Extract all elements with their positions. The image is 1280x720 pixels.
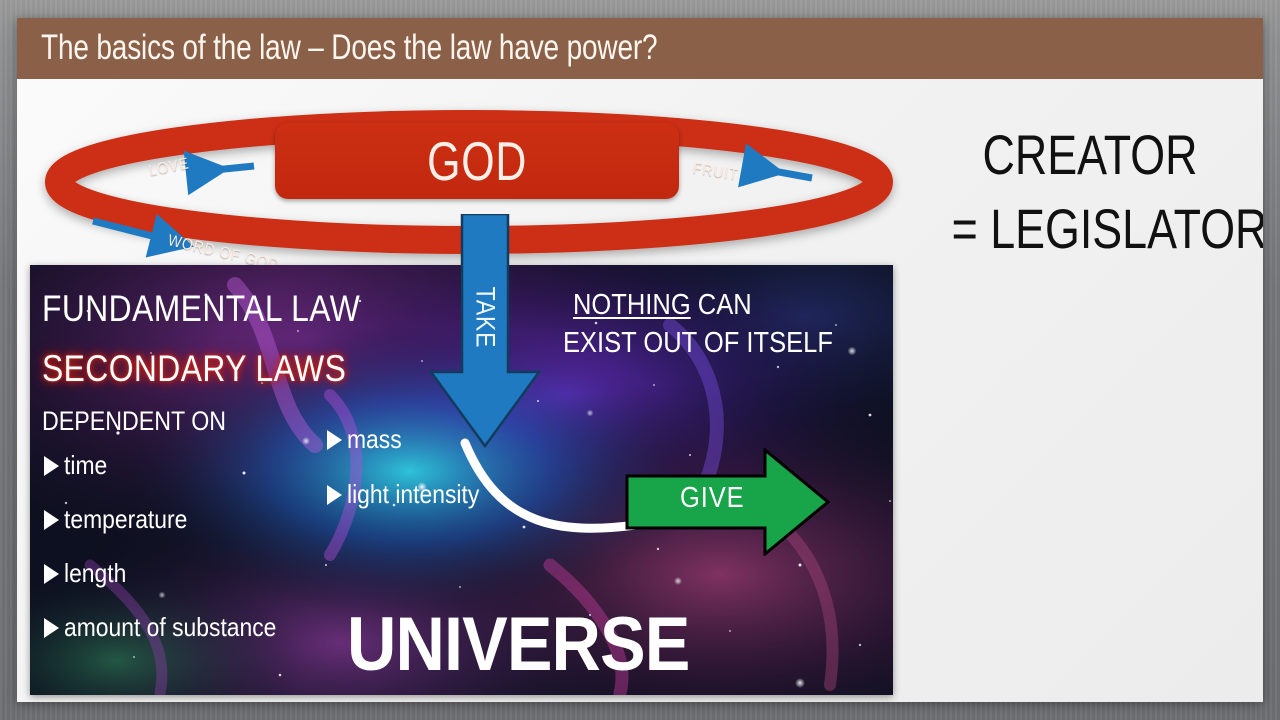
dependencies-list-left: time temperature length amount of substa… <box>44 449 305 665</box>
triangle-bullet-icon <box>327 485 342 505</box>
list-item: time <box>44 449 305 482</box>
take-label: TAKE <box>470 287 501 349</box>
heading-fundamental-law: FUNDAMENTAL LAW <box>42 287 360 331</box>
triangle-bullet-icon <box>44 456 59 476</box>
creator-line-1: CREATOR <box>952 118 1229 192</box>
list-item: temperature <box>44 503 305 536</box>
triangle-bullet-icon <box>44 564 59 584</box>
universe-word: UNIVERSE <box>347 605 689 685</box>
heading-secondary-laws: SECONDARY LAWS <box>42 347 346 391</box>
label-dependent-on: DEPENDENT ON <box>42 405 226 437</box>
slide-title: The basics of the law – Does the law hav… <box>41 27 657 69</box>
slide-title-bar: The basics of the law – Does the law hav… <box>17 18 1263 79</box>
desktop-background: The basics of the law – Does the law hav… <box>0 0 1280 720</box>
give-arrow: GIVE <box>625 448 830 556</box>
creator-line-2: = LEGISLATOR <box>952 192 1229 266</box>
word-of-god-arrow-icon <box>93 221 160 238</box>
list-item: light intensity <box>327 478 497 511</box>
list-item-label: length <box>64 557 126 590</box>
list-item: length <box>44 557 305 590</box>
statement-underlined-word: NOTHING <box>573 289 691 321</box>
statement-line-2: EXIST OUT OF ITSELF <box>563 325 833 362</box>
list-item-label: light intensity <box>347 478 479 511</box>
list-item-label: mass <box>347 423 402 456</box>
take-arrow: TAKE <box>429 214 541 449</box>
give-label: GIVE <box>680 482 745 515</box>
statement-line-1-rest: CAN <box>691 289 752 321</box>
creator-legislator-block: CREATOR = LEGISLATOR <box>917 118 1263 266</box>
triangle-bullet-icon <box>327 430 342 450</box>
triangle-bullet-icon <box>44 510 59 530</box>
fruit-arrow-icon <box>751 167 812 178</box>
list-item-label: amount of substance <box>64 611 276 644</box>
list-item-label: time <box>64 449 107 482</box>
presentation-slide: The basics of the law – Does the law hav… <box>17 18 1263 702</box>
triangle-bullet-icon <box>44 618 59 638</box>
love-arrow-icon <box>195 166 254 172</box>
statement-line-1: NOTHING CAN <box>573 287 752 324</box>
list-item-label: temperature <box>64 503 187 536</box>
list-item: amount of substance <box>44 611 305 644</box>
